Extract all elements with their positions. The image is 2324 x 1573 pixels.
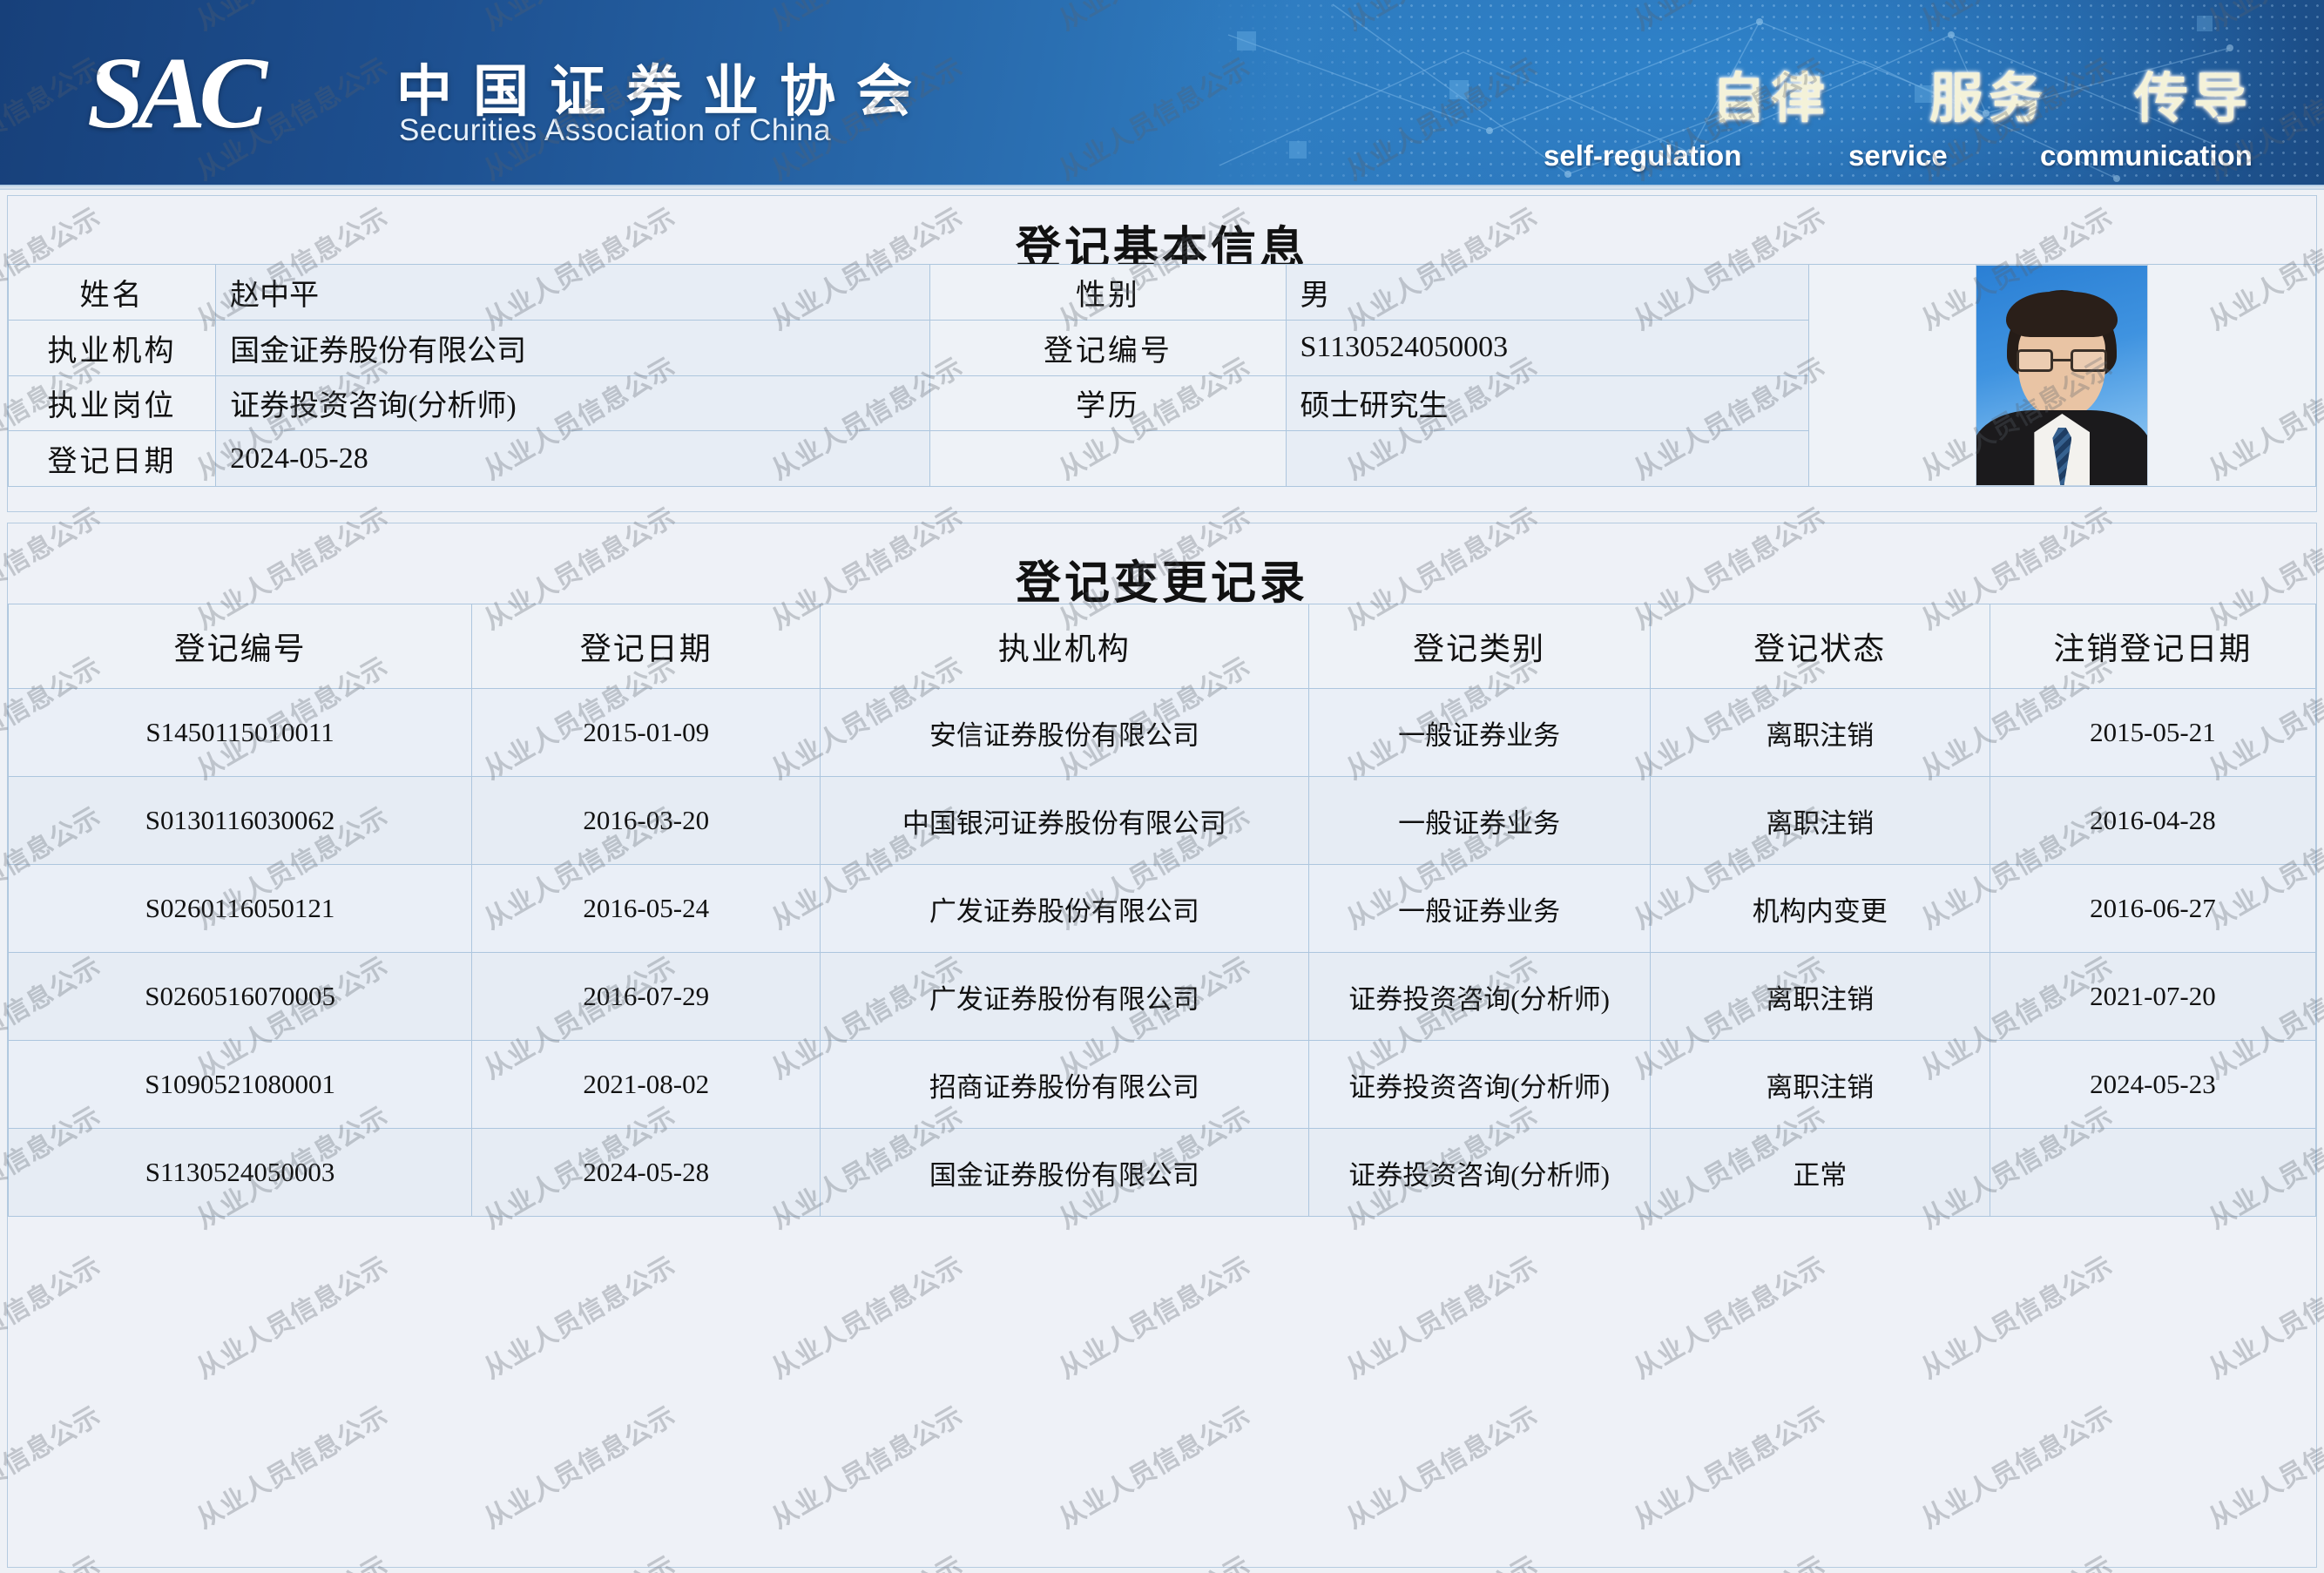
cell-r5-c4: 正常 bbox=[1650, 1129, 1990, 1217]
banner-background: SAC 中国证券业协会 Securities Association of Ch… bbox=[0, 0, 2324, 190]
change-record-title: 登记变更记录 bbox=[8, 523, 2316, 604]
cell-r4-c2: 招商证券股份有限公司 bbox=[821, 1041, 1308, 1129]
slogan-cn-self-regulation: 自律 bbox=[1712, 54, 1830, 132]
value-reg-number: S1130524050003 bbox=[1286, 320, 1808, 375]
table-row: S11305240500032024-05-28国金证券股份有限公司证券投资咨询… bbox=[9, 1129, 2316, 1217]
slogan-en-self-regulation: self-regulation bbox=[1544, 139, 1741, 172]
label-reg-date: 登记日期 bbox=[9, 431, 216, 487]
label-name: 姓名 bbox=[9, 265, 216, 321]
cell-r3-c1: 2016-07-29 bbox=[472, 953, 821, 1041]
table-header-row: 登记编号登记日期执业机构登记类别登记状态注销登记日期 bbox=[9, 604, 2316, 689]
slogan-en-service: service bbox=[1848, 139, 1948, 172]
photo-cell bbox=[1808, 265, 2315, 487]
column-header-1: 登记日期 bbox=[472, 604, 821, 689]
basic-info-title: 登记基本信息 bbox=[8, 196, 2316, 264]
cell-r1-c5: 2016-04-28 bbox=[1990, 777, 2315, 865]
table-row: 姓名 赵中平 性别 男 bbox=[9, 265, 2316, 321]
table-row: S02601160501212016-05-24广发证券股份有限公司一般证券业务… bbox=[9, 865, 2316, 953]
cell-r4-c5: 2024-05-23 bbox=[1990, 1041, 2315, 1129]
cell-r5-c1: 2024-05-28 bbox=[472, 1129, 821, 1217]
cell-r5-c0: S1130524050003 bbox=[9, 1129, 472, 1217]
label-institution: 执业机构 bbox=[9, 320, 216, 375]
banner-divider bbox=[0, 185, 2324, 190]
cell-r4-c4: 离职注销 bbox=[1650, 1041, 1990, 1129]
cell-r0-c1: 2015-01-09 bbox=[472, 689, 821, 777]
value-education: 硕士研究生 bbox=[1286, 375, 1808, 431]
cell-r5-c5 bbox=[1990, 1129, 2315, 1217]
table-row: S14501150100112015-01-09安信证券股份有限公司一般证券业务… bbox=[9, 689, 2316, 777]
cell-r0-c5: 2015-05-21 bbox=[1990, 689, 2315, 777]
label-gender: 性别 bbox=[930, 265, 1286, 321]
cell-r4-c0: S1090521080001 bbox=[9, 1041, 472, 1129]
label-education: 学历 bbox=[930, 375, 1286, 431]
change-record-table: 登记编号登记日期执业机构登记类别登记状态注销登记日期 S145011501001… bbox=[8, 604, 2316, 1217]
basic-info-table: 姓名 赵中平 性别 男 bbox=[8, 264, 2316, 487]
avatar-glasses-icon bbox=[2017, 349, 2107, 372]
cell-r2-c3: 一般证券业务 bbox=[1308, 865, 1650, 953]
cell-r1-c2: 中国银河证券股份有限公司 bbox=[821, 777, 1308, 865]
table-row: S02605160700052016-07-29广发证券股份有限公司证券投资咨询… bbox=[9, 953, 2316, 1041]
label-position: 执业岗位 bbox=[9, 375, 216, 431]
cell-r5-c2: 国金证券股份有限公司 bbox=[821, 1129, 1308, 1217]
sac-logo-icon: SAC bbox=[87, 42, 260, 145]
cell-r1-c4: 离职注销 bbox=[1650, 777, 1990, 865]
cell-r0-c2: 安信证券股份有限公司 bbox=[821, 689, 1308, 777]
cell-r1-c3: 一般证券业务 bbox=[1308, 777, 1650, 865]
cell-r0-c3: 一般证券业务 bbox=[1308, 689, 1650, 777]
avatar-fringe bbox=[2006, 292, 2118, 337]
table-row: S10905210800012021-08-02招商证券股份有限公司证券投资咨询… bbox=[9, 1041, 2316, 1129]
column-header-0: 登记编号 bbox=[9, 604, 472, 689]
cell-r1-c0: S0130116030062 bbox=[9, 777, 472, 865]
cell-r4-c1: 2021-08-02 bbox=[472, 1041, 821, 1129]
table-row: S01301160300622016-03-20中国银河证券股份有限公司一般证券… bbox=[9, 777, 2316, 865]
cell-r4-c3: 证券投资咨询(分析师) bbox=[1308, 1041, 1650, 1129]
organization-name-en: Securities Association of China bbox=[399, 113, 831, 148]
column-header-3: 登记类别 bbox=[1308, 604, 1650, 689]
empty-label-cell bbox=[930, 431, 1286, 487]
cell-r2-c5: 2016-06-27 bbox=[1990, 865, 2315, 953]
column-header-5: 注销登记日期 bbox=[1990, 604, 2315, 689]
value-position: 证券投资咨询(分析师) bbox=[216, 375, 930, 431]
site-header-banner: SAC 中国证券业协会 Securities Association of Ch… bbox=[0, 0, 2324, 190]
value-name: 赵中平 bbox=[216, 265, 930, 321]
cell-r2-c2: 广发证券股份有限公司 bbox=[821, 865, 1308, 953]
avatar bbox=[1976, 265, 2148, 486]
cell-r1-c1: 2016-03-20 bbox=[472, 777, 821, 865]
slogan-en-communication: communication bbox=[2040, 139, 2253, 172]
cell-r3-c2: 广发证券股份有限公司 bbox=[821, 953, 1308, 1041]
cell-r2-c4: 机构内变更 bbox=[1650, 865, 1990, 953]
slogan-cn-communication: 传导 bbox=[2134, 54, 2253, 132]
cell-r5-c3: 证券投资咨询(分析师) bbox=[1308, 1129, 1650, 1217]
column-header-4: 登记状态 bbox=[1650, 604, 1990, 689]
value-institution: 国金证券股份有限公司 bbox=[216, 320, 930, 375]
basic-info-panel: 登记基本信息 姓名 赵中平 性别 男 bbox=[7, 195, 2317, 512]
cell-r3-c5: 2021-07-20 bbox=[1990, 953, 2315, 1041]
value-gender: 男 bbox=[1286, 265, 1808, 321]
cell-r2-c1: 2016-05-24 bbox=[472, 865, 821, 953]
cell-r0-c0: S1450115010011 bbox=[9, 689, 472, 777]
slogan-cn-service: 服务 bbox=[1929, 54, 2048, 132]
cell-r0-c4: 离职注销 bbox=[1650, 689, 1990, 777]
value-reg-date: 2024-05-28 bbox=[216, 431, 930, 487]
label-reg-number: 登记编号 bbox=[930, 320, 1286, 375]
cell-r3-c3: 证券投资咨询(分析师) bbox=[1308, 953, 1650, 1041]
change-record-panel: 登记变更记录 登记编号登记日期执业机构登记类别登记状态注销登记日期 S14501… bbox=[7, 523, 2317, 1568]
cell-r3-c4: 离职注销 bbox=[1650, 953, 1990, 1041]
column-header-2: 执业机构 bbox=[821, 604, 1308, 689]
cell-r2-c0: S0260116050121 bbox=[9, 865, 472, 953]
cell-r3-c0: S0260516070005 bbox=[9, 953, 472, 1041]
empty-value-cell bbox=[1286, 431, 1808, 487]
